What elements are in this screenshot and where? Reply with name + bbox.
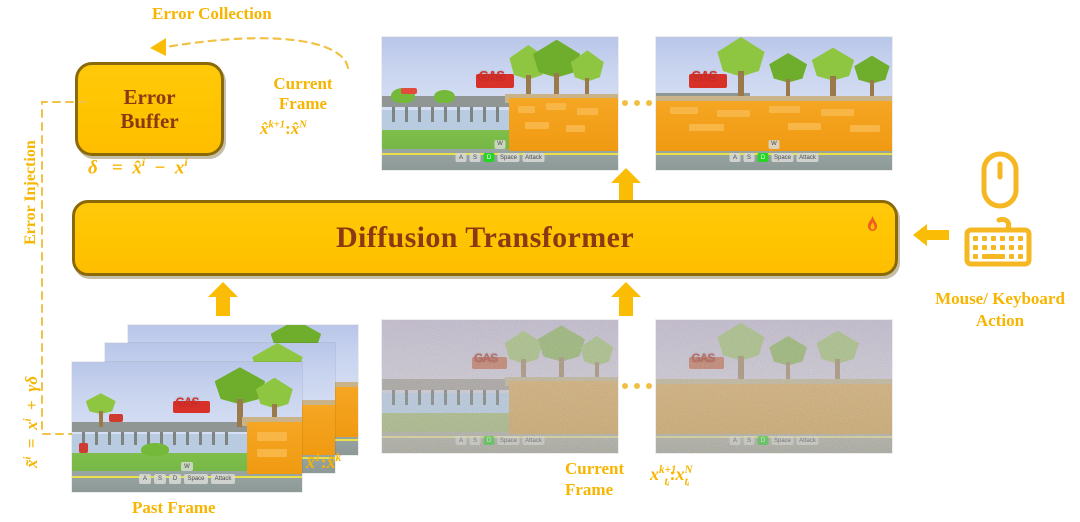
error-buffer-label-line1: Error — [123, 85, 175, 109]
game-scene: GAS A S D Space Attack — [656, 320, 892, 453]
inj-gamma: γ — [22, 385, 41, 392]
error-injection-formula: x̃i = xi + γδ — [22, 376, 42, 468]
current-frame-hat-formula: x̂k+1:x̂N — [260, 119, 307, 139]
hud-key-space: Space — [498, 436, 520, 445]
mk-line1: Mouse/ Keyboard — [935, 289, 1065, 308]
hud-key-attack: Attack — [797, 436, 819, 445]
hud-key-a: A — [730, 436, 741, 445]
predicted-frame-n[interactable]: GAS W A S D Space Attack — [656, 37, 892, 170]
mk-line2: Action — [976, 311, 1024, 330]
arrow-up-icon-to-predicted-1-inner — [611, 168, 641, 202]
tree — [769, 53, 807, 101]
gas-sign-text: GAS — [176, 395, 199, 409]
predicted-frame-1[interactable]: GAS W A S D Space Attack — [382, 37, 618, 170]
cf-bottom-line1: Current — [565, 459, 624, 478]
hat-x-1: x̂ — [260, 119, 269, 138]
hud-key-row: A S D Space Attack — [730, 436, 819, 445]
tree — [717, 37, 764, 101]
hud-key-d: D — [169, 474, 181, 484]
hud-key-attack: Attack — [797, 153, 819, 162]
delta-term1: x̂ — [132, 157, 142, 178]
tilde-x-2-sup: k — [336, 452, 342, 464]
noisy-frame-n[interactable]: GAS A S D Space Attack — [656, 320, 892, 453]
delta-minus: − — [155, 157, 166, 178]
hud-key-d: D — [484, 436, 495, 445]
hud-key-w: W — [495, 140, 506, 149]
noisy-x-2-sub: tᵢ — [685, 476, 690, 488]
hud-key-row: A S D Space Attack — [730, 153, 819, 162]
hat-x-1-sup: k+1 — [269, 119, 286, 130]
delta-term2-sup: i — [184, 156, 187, 169]
flame-icon — [866, 215, 879, 234]
hud-key-s: S — [470, 153, 481, 162]
mouse-keyboard-action-label: Mouse/ Keyboard Action — [915, 288, 1080, 332]
inj-t1-sup: i — [22, 418, 33, 421]
hud-key-attack: Attack — [211, 474, 235, 484]
hud-key-s: S — [154, 474, 166, 484]
noisy-x-2-sup: N — [685, 464, 693, 476]
arrow-left-icon-action — [913, 224, 949, 246]
game-scene: GAS W A S D Space Attack — [656, 37, 892, 170]
hud-key-a: A — [730, 153, 741, 162]
hud-key-attack: Attack — [523, 436, 545, 445]
tree — [86, 393, 116, 427]
arrow-up-icon-past-frames — [208, 282, 238, 316]
hud-key-w: W — [181, 462, 193, 471]
delta-term1-sup: i — [142, 156, 145, 169]
hud-key-attack: Attack — [523, 153, 545, 162]
inj-plus: + — [22, 400, 41, 410]
cf-bottom-line2: Frame — [565, 480, 613, 499]
error-collection-label: Error Collection — [152, 4, 272, 24]
past-frame-front[interactable]: GAS W A S D Space Attack — [72, 362, 302, 492]
noisy-x-2: x — [676, 464, 685, 484]
hud-key-s: S — [744, 436, 755, 445]
tree — [812, 48, 854, 101]
diffusion-transformer-title: Diffusion Transformer — [336, 221, 634, 255]
bush — [141, 443, 169, 456]
inj-delta: δ — [22, 376, 41, 385]
tilde-x-2: x̃ — [327, 452, 336, 472]
error-buffer-label-line2: Buffer — [120, 109, 178, 133]
error-injection-label: Error Injection — [22, 140, 40, 245]
mouse-icon — [977, 150, 1023, 212]
hud-key-w: W — [769, 140, 780, 149]
noisy-frame-1[interactable]: GAS A S D Space Attack — [382, 320, 618, 453]
car — [109, 414, 123, 422]
hud-key-a: A — [139, 474, 151, 484]
inj-lhs: x̃ — [22, 460, 41, 469]
game-scene: GAS A S D Space Attack — [382, 320, 618, 453]
hud-key-row: A S D Space Attack — [139, 474, 235, 484]
inj-eq: = — [22, 438, 41, 448]
gas-sign-text: GAS — [691, 68, 716, 83]
hud-key-space: Space — [184, 474, 208, 484]
past-frame-label: Past Frame — [132, 498, 216, 518]
noisy-frame-formula: xk+1tᵢ:xNtᵢ — [650, 464, 690, 488]
hud-key-space: Space — [772, 436, 794, 445]
current-frame-bottom-label: Current Frame — [565, 458, 624, 501]
tilde-x-1: x̃ — [306, 452, 315, 472]
game-scene: GAS W A S D Space Attack — [382, 37, 618, 170]
delta-formula: δ = x̂i − xi — [88, 156, 188, 179]
hud-key-space: Space — [498, 153, 520, 162]
inj-t1: x — [22, 421, 41, 430]
hud-key-row: A S D Space Attack — [456, 436, 545, 445]
keyboard-icon — [963, 216, 1033, 268]
hud-key-row: A S D Space Attack — [456, 153, 545, 162]
arrow-up-icon-noisy-frames — [611, 282, 641, 316]
diffusion-transformer-box[interactable]: Diffusion Transformer — [72, 200, 898, 276]
ellipsis-icon-top — [622, 100, 652, 106]
bush — [434, 90, 455, 103]
noisy-x-1: x — [650, 464, 659, 484]
hud-key-space: Space — [772, 153, 794, 162]
current-frame-top-line2: Frame — [279, 94, 327, 113]
inj-lhs-sup: i — [22, 457, 33, 460]
hat-x-2: x̂ — [291, 119, 300, 138]
current-frame-top-line1: Current — [273, 74, 332, 93]
hud-key-s: S — [744, 153, 755, 162]
hud-key-d: D — [484, 153, 495, 162]
past-frame-tilde-formula: x̃1:x̃k — [306, 452, 341, 473]
current-frame-top-label: Current Frame — [258, 74, 348, 113]
hud-key-s: S — [470, 436, 481, 445]
wall — [509, 98, 618, 151]
hat-x-2-sup: N — [299, 119, 307, 130]
hud-key-a: A — [456, 436, 467, 445]
game-scene: GAS W A S D Space Attack — [72, 362, 302, 492]
hud-key-d: D — [758, 436, 769, 445]
tree — [854, 56, 889, 101]
gas-sign-text: GAS — [479, 68, 504, 83]
delta-equals: = — [112, 157, 123, 178]
car — [401, 88, 418, 95]
ellipsis-icon-bottom — [622, 383, 652, 389]
hydrant — [79, 443, 88, 453]
hud-key-d: D — [758, 153, 769, 162]
hud-key-a: A — [456, 153, 467, 162]
delta-term2: x — [175, 157, 185, 178]
error-buffer-box[interactable]: Error Buffer — [75, 62, 224, 156]
wall — [247, 422, 302, 474]
